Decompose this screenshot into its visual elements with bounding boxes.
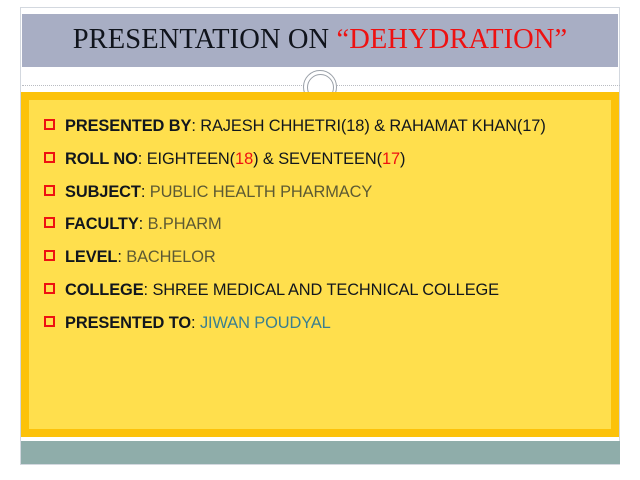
square-bullet-icon (44, 185, 55, 196)
bullet-item-value-segment: ) (400, 150, 405, 168)
footer-bar (21, 441, 620, 464)
title-accent-text: “DEHYDRATION” (336, 24, 567, 55)
slide-title-band: PRESENTATION ON “DEHYDRATION” (22, 14, 618, 67)
bullet-list-item: PRESENTED TO: JIWAN POUDYAL (43, 312, 597, 334)
bullet-list-item: COLLEGE: SHREE MEDICAL AND TECHNICAL COL… (43, 279, 597, 301)
title-main-text: PRESENTATION ON (73, 24, 337, 55)
bullet-item-value-segment: 17 (382, 150, 400, 168)
bullet-item-label: PRESENTED TO (65, 314, 191, 332)
bullet-item-separator: : (191, 117, 200, 135)
bullet-item-value-segment: PUBLIC HEALTH PHARMACY (150, 183, 372, 201)
bullet-item-separator: : (138, 150, 147, 168)
bullet-item-value-segment: 18 (235, 150, 253, 168)
square-bullet-icon (44, 250, 55, 261)
bullet-item-value: RAJESH CHHETRI(18) & RAHAMAT KHAN(17) (200, 117, 545, 135)
bullet-item-separator: : (141, 183, 150, 201)
bullet-item-value-segment: SHREE MEDICAL AND TECHNICAL COLLEGE (152, 281, 499, 299)
bullet-item-label: SUBJECT (65, 183, 141, 201)
bullet-item-value-segment: BACHELOR (126, 248, 215, 266)
bullet-item-value-segment: ) & SEVENTEEN( (253, 150, 382, 168)
bullet-item-value: JIWAN POUDYAL (200, 314, 331, 332)
square-bullet-icon (44, 152, 55, 163)
square-bullet-icon (44, 316, 55, 327)
bullet-list-item: ROLL NO: EIGHTEEN(18) & SEVENTEEN(17) (43, 148, 597, 170)
bullet-item-separator: : (139, 215, 148, 233)
bullet-item-value-segment: EIGHTEEN( (147, 150, 235, 168)
bullet-item-value-segment: 18 (346, 117, 364, 135)
bullet-item-label: COLLEGE (65, 281, 144, 299)
content-box-frame: PRESENTED BY: RAJESH CHHETRI(18) & RAHAM… (21, 92, 619, 437)
bullet-item-label: ROLL NO (65, 150, 138, 168)
slide-title: PRESENTATION ON “DEHYDRATION” (73, 26, 568, 55)
bullet-list-item: SUBJECT: PUBLIC HEALTH PHARMACY (43, 181, 597, 203)
bullet-item-value-segment: RAJESH CHHETRI( (200, 117, 346, 135)
bullet-item-value: PUBLIC HEALTH PHARMACY (150, 183, 372, 201)
bullet-item-label: LEVEL (65, 248, 117, 266)
bullet-item-value: BACHELOR (126, 248, 215, 266)
presentation-slide: PRESENTATION ON “DEHYDRATION” PRESENTED … (0, 0, 640, 480)
bullet-item-separator: : (191, 314, 200, 332)
bullet-item-value-segment: JIWAN POUDYAL (200, 314, 331, 332)
bullet-list: PRESENTED BY: RAJESH CHHETRI(18) & RAHAM… (43, 115, 597, 334)
bullet-list-item: FACULTY: B.PHARM (43, 213, 597, 235)
bullet-item-label: PRESENTED BY (65, 117, 191, 135)
bullet-item-label: FACULTY (65, 215, 139, 233)
bullet-item-value: B.PHARM (148, 215, 222, 233)
square-bullet-icon (44, 283, 55, 294)
bullet-item-value-segment: ) & RAHAMAT KHAN(17) (364, 117, 545, 135)
square-bullet-icon (44, 217, 55, 228)
bullet-item-separator: : (117, 248, 126, 266)
content-box: PRESENTED BY: RAJESH CHHETRI(18) & RAHAM… (29, 100, 611, 429)
bullet-list-item: LEVEL: BACHELOR (43, 246, 597, 268)
bullet-item-value-segment: B.PHARM (148, 215, 222, 233)
bullet-list-item: PRESENTED BY: RAJESH CHHETRI(18) & RAHAM… (43, 115, 597, 137)
bullet-item-value: EIGHTEEN(18) & SEVENTEEN(17) (147, 150, 406, 168)
square-bullet-icon (44, 119, 55, 130)
bullet-item-value: SHREE MEDICAL AND TECHNICAL COLLEGE (152, 281, 499, 299)
